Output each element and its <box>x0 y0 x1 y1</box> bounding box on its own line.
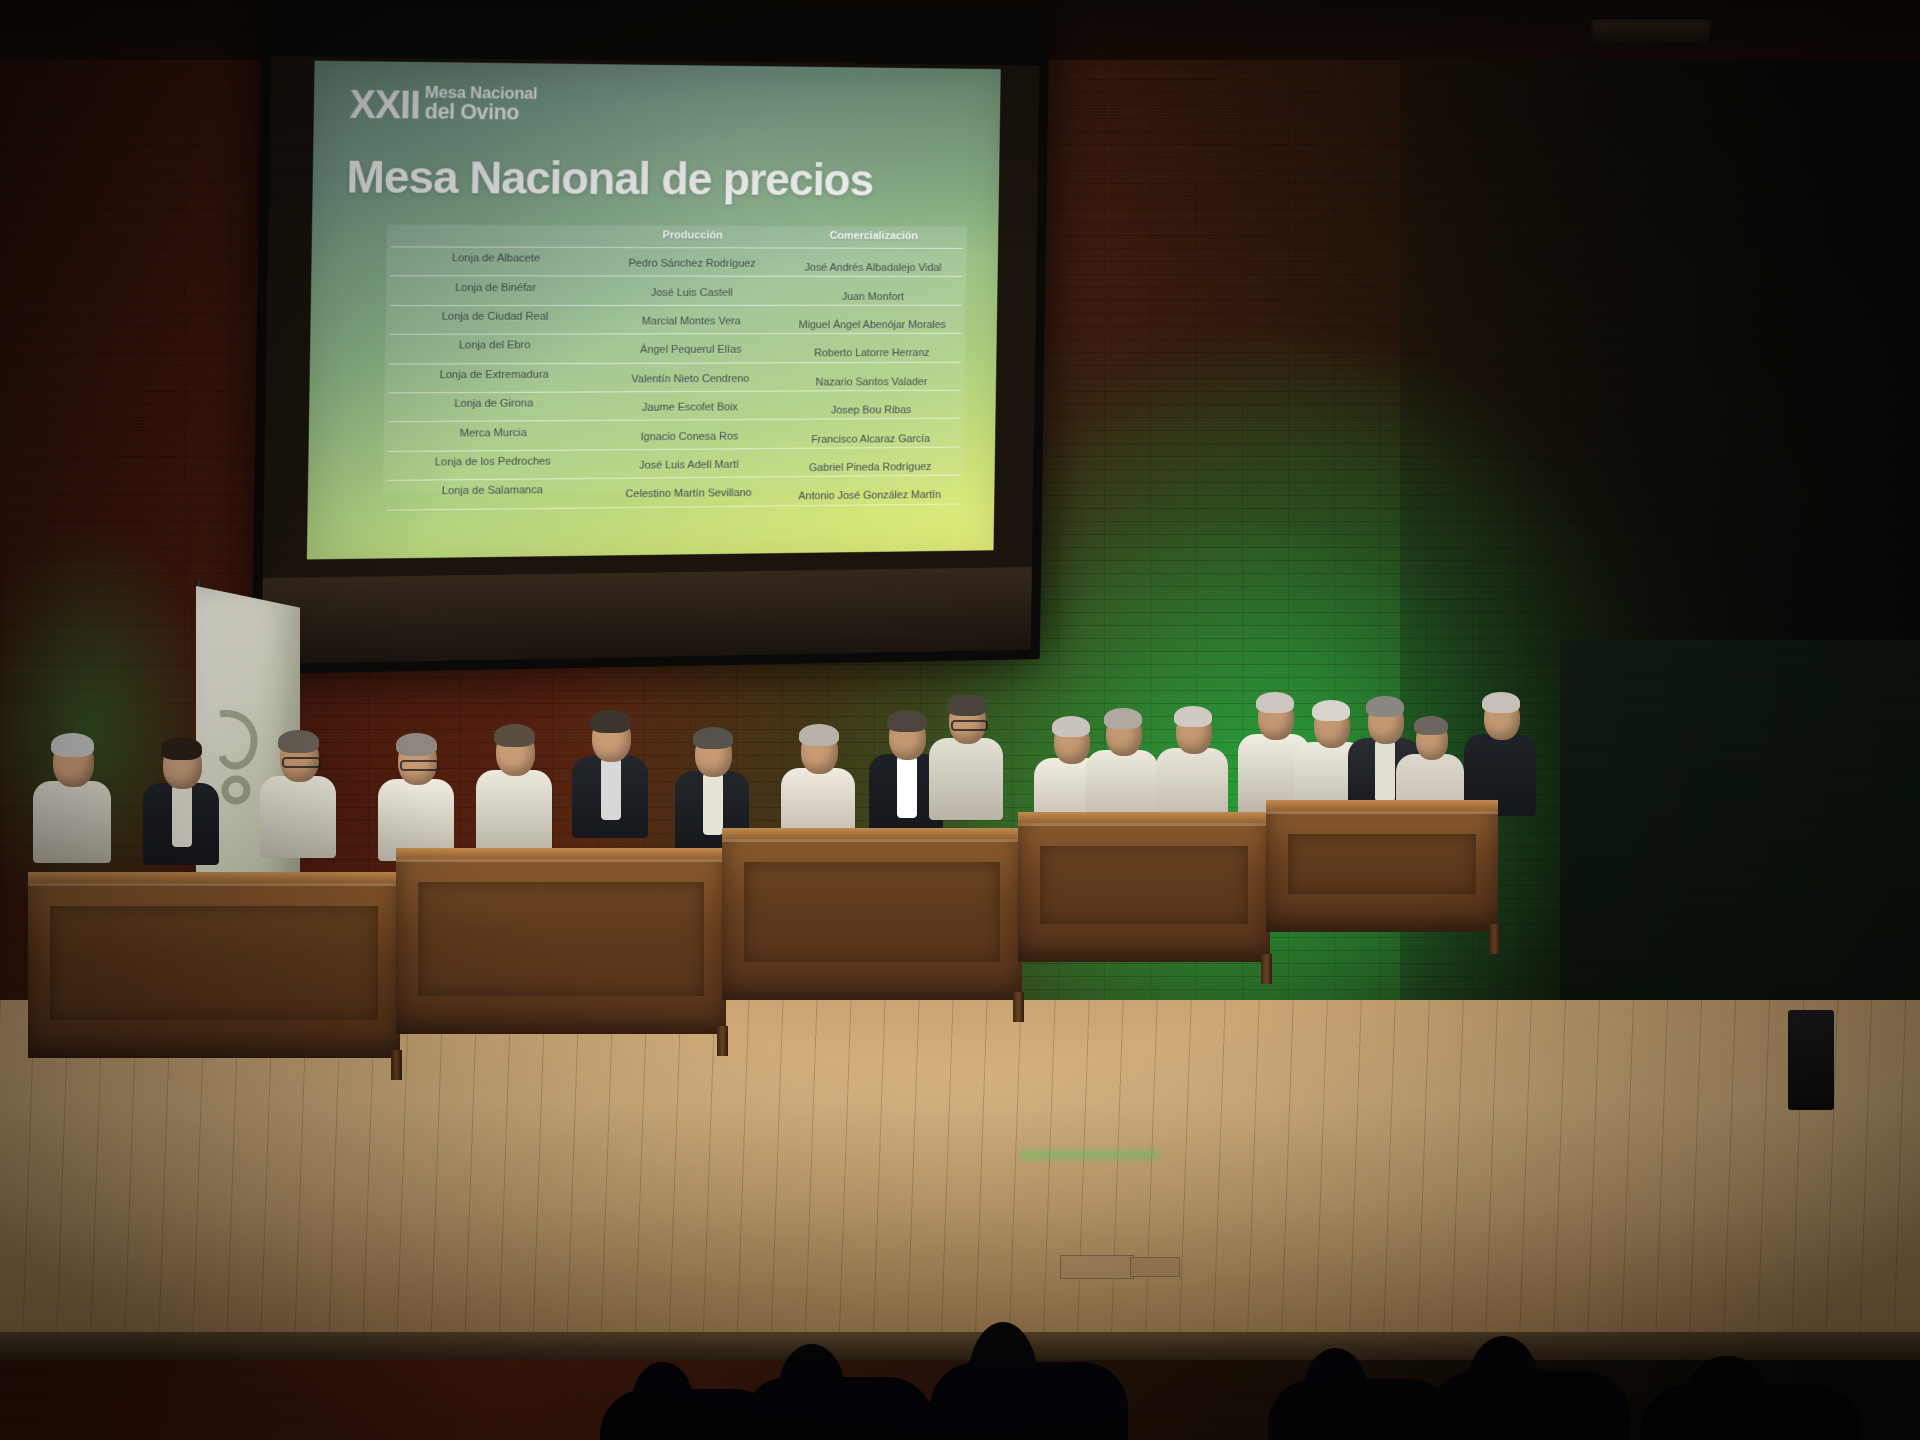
audience-head <box>1685 1356 1769 1440</box>
cell-lonja: Merca Murcia <box>388 426 598 439</box>
green-light-spill <box>1020 1150 1160 1160</box>
panel-table-segment <box>1018 812 1270 962</box>
screen-bottom-border <box>261 567 1031 664</box>
cell-lonja: Lonja de Salamanca <box>387 484 597 498</box>
cell-produccion: Ignacio Conesa Ros <box>598 430 781 443</box>
cell-produccion: José Luis Adell Martí <box>597 459 780 472</box>
cell-produccion: Jaume Escofet Boix <box>598 401 781 414</box>
audience-head <box>1467 1336 1540 1440</box>
cell-lonja: Lonja de Ciudad Real <box>389 311 599 323</box>
panel-member <box>926 690 1022 826</box>
panel-member-torso <box>929 738 1003 820</box>
panel-table-segment <box>28 872 400 1058</box>
stage-front-edge <box>0 1332 1920 1360</box>
panel-member-hair <box>947 694 987 716</box>
panel-member-hair <box>799 724 839 746</box>
panel-member <box>32 729 128 869</box>
cell-produccion: Valentín Nieto Cendreno <box>599 373 782 385</box>
column-header-comercializacion: Comercialización <box>784 230 964 242</box>
table-leg <box>1261 954 1272 984</box>
table-panel-inset <box>1288 834 1476 894</box>
table-row: Lonja de AlbacetePedro Sánchez Rodríguez… <box>390 246 963 276</box>
panel-member-shirt <box>172 785 192 847</box>
cell-lonja: Lonja de Binéfar <box>390 282 600 294</box>
table-row: Lonja de BinéfarJosé Luis CastellJuan Mo… <box>390 276 963 305</box>
panel-member-hair <box>51 733 94 757</box>
cell-lonja: Lonja de Girona <box>388 397 598 410</box>
cell-comercializacion: José Andrés Albadalejo Vidal <box>783 262 963 274</box>
audience-head <box>968 1322 1039 1440</box>
table-row: Lonja de ExtremaduraValentín Nieto Cendr… <box>388 361 961 392</box>
table-panel-inset <box>1040 846 1248 924</box>
panel-member-hair <box>1414 716 1448 735</box>
cell-comercializacion: Miguel Ángel Abenójar Morales <box>782 319 962 331</box>
auditorium-photo: XXII Mesa Nacional del Ovino Mesa Nacion… <box>0 0 1920 1440</box>
table-panel-inset <box>744 862 1000 962</box>
presentation-slide: XXII Mesa Nacional del Ovino Mesa Nacion… <box>307 61 1001 560</box>
audience-head <box>778 1344 845 1440</box>
panel-member <box>474 720 570 858</box>
cell-lonja: Lonja de los Pedroches <box>387 455 597 469</box>
panel-member-hair <box>494 724 535 747</box>
stage-floor-hatch-2 <box>1130 1257 1180 1277</box>
slide-table-body: Lonja de AlbacetePedro Sánchez Rodríguez… <box>387 246 963 510</box>
cell-produccion: Celestino Martín Sevillano <box>597 487 780 501</box>
cell-produccion: Marcial Montes Vera <box>599 316 782 328</box>
cell-lonja: Lonja de Albacete <box>390 253 600 265</box>
cell-produccion: Pedro Sánchez Rodríguez <box>600 258 783 270</box>
panel-member-hair <box>693 727 733 749</box>
eyeglasses-icon <box>951 720 988 731</box>
logo-roman-numeral: XXII <box>349 87 420 124</box>
panel-member-shirt <box>703 773 723 835</box>
panel-member-hair <box>1482 692 1520 713</box>
panel-table-segment <box>396 848 726 1034</box>
panel-member-hair <box>887 710 927 732</box>
table-row: Merca MurciaIgnacio Conesa RosFrancisco … <box>387 418 960 451</box>
cell-produccion: Ángel Pequerul Elías <box>599 344 782 356</box>
panel-member-shirt <box>897 756 917 818</box>
panel-member-hair <box>161 737 202 760</box>
chair <box>1788 1010 1834 1110</box>
projection-screen: XXII Mesa Nacional del Ovino Mesa Nacion… <box>251 0 1049 674</box>
panel-member-hair <box>1104 708 1142 729</box>
table-row: Lonja de SalamancaCelestino Martín Sevil… <box>387 475 960 511</box>
eyeglasses-icon <box>282 757 321 768</box>
panel-member-hair <box>1174 706 1212 727</box>
panel-member <box>570 706 666 844</box>
panel-table-segment <box>722 828 1022 1000</box>
panel-member <box>258 726 354 864</box>
column-header-lonja <box>391 229 601 242</box>
screen-top-border <box>271 4 1040 66</box>
ceiling-vent <box>1590 18 1712 46</box>
audience-head <box>1303 1348 1368 1440</box>
cell-comercializacion: Gabriel Pineda Rodríguez <box>780 461 960 474</box>
panel-member-hair <box>396 733 437 756</box>
cell-comercializacion: Nazario Santos Valader <box>781 376 961 388</box>
panel-member-shirt <box>601 758 621 820</box>
panel-member-torso <box>260 776 336 858</box>
table-row: Lonja de GironaJaume Escofet BoixJosep B… <box>388 390 961 422</box>
logo-wordmark: Mesa Nacional del Ovino <box>425 84 538 126</box>
panel-member <box>376 729 472 867</box>
table-leg <box>717 1026 728 1056</box>
panel-member-hair <box>1256 692 1294 713</box>
table-row: Lonja del EbroÁngel Pequerul ElíasRobert… <box>389 333 962 363</box>
table-leg <box>1489 924 1500 954</box>
stage-floor-hatch <box>1060 1255 1134 1279</box>
table-panel-inset <box>50 906 378 1020</box>
projection-screen-surface: XXII Mesa Nacional del Ovino Mesa Nacion… <box>261 4 1040 664</box>
panel-member-torso <box>476 770 552 852</box>
cell-comercializacion: Josep Bou Ribas <box>781 404 961 417</box>
cell-comercializacion: Roberto Latorre Herranz <box>782 348 962 360</box>
table-row: Lonja de Ciudad RealMarcial Montes VeraM… <box>389 305 962 334</box>
table-leg <box>1013 992 1024 1022</box>
panel-member-hair <box>278 730 319 753</box>
panel-member-torso <box>33 781 111 863</box>
panel-table-segment <box>1266 800 1498 932</box>
slide-title: Mesa Nacional de precios <box>346 149 873 206</box>
table-panel-inset <box>418 882 704 996</box>
panel-member-shirt <box>1491 736 1511 798</box>
event-logo: XXII Mesa Nacional del Ovino <box>349 83 537 126</box>
cell-comercializacion: Antonio José González Martín <box>780 489 960 502</box>
cell-comercializacion: Juan Monfort <box>783 291 963 303</box>
column-header-produccion: Producción <box>601 229 784 241</box>
panel-member-hair <box>590 710 631 733</box>
table-leg <box>391 1050 402 1080</box>
slide-table-header-row: Producción Comercialización <box>391 229 964 248</box>
audience-head <box>632 1362 692 1440</box>
cell-produccion: José Luis Castell <box>600 287 783 299</box>
cell-lonja: Lonja del Ebro <box>389 340 599 352</box>
slide-table: Producción Comercialización Lonja de Alb… <box>387 229 964 511</box>
panel-member <box>141 733 237 871</box>
logo-line-2: del Ovino <box>425 101 538 124</box>
cell-comercializacion: Francisco Alcaraz García <box>781 433 961 446</box>
cell-lonja: Lonja de Extremadura <box>389 369 599 382</box>
eyeglasses-icon <box>400 760 439 771</box>
